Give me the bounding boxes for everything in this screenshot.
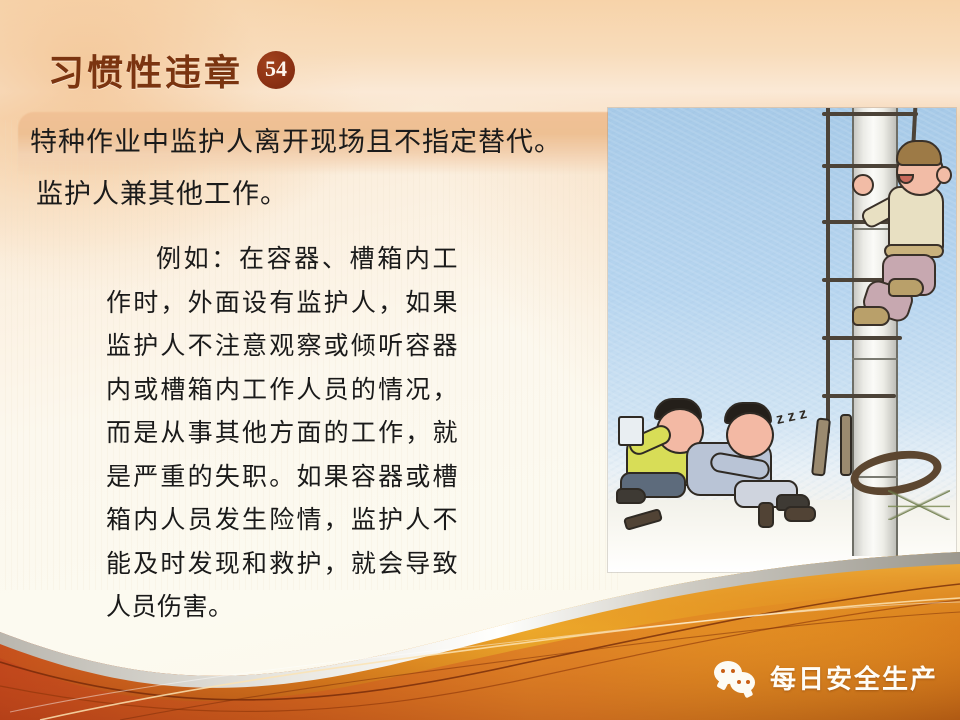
snore-marks: z z z bbox=[775, 405, 809, 428]
footer-brand: 每日安全生产 bbox=[714, 659, 938, 696]
ladder-rung bbox=[822, 112, 918, 116]
headline-line-1: 特种作业中监护人离开现场且不指定替代。 bbox=[30, 120, 638, 159]
wechat-icon bbox=[714, 661, 758, 695]
worker-shoe bbox=[888, 278, 924, 297]
debris-piece bbox=[784, 506, 816, 522]
sleeping-man-figure: z z z bbox=[680, 394, 810, 522]
climbing-worker-figure bbox=[844, 126, 956, 376]
footer-account-name: 每日安全生产 bbox=[770, 659, 938, 696]
debris-pipe bbox=[840, 414, 852, 476]
wechat-bubble-small bbox=[730, 672, 755, 693]
worker-ear bbox=[936, 166, 952, 184]
wechat-eye bbox=[746, 680, 750, 684]
slide-canvas: 习惯性违章 54 特种作业中监护人离开现场且不指定替代。 监护人兼其他工作。 例… bbox=[0, 0, 960, 720]
grass-icon bbox=[888, 490, 950, 520]
ladder-rail-left bbox=[826, 108, 830, 434]
status-badge: 54 bbox=[257, 51, 295, 89]
worker-hair bbox=[896, 140, 942, 166]
wechat-eye bbox=[721, 669, 725, 673]
slide-title-row: 习惯性违章 54 bbox=[48, 44, 295, 96]
ladder-rung bbox=[822, 394, 896, 398]
worker-hand bbox=[852, 174, 874, 196]
headline-line-2: 监护人兼其他工作。 bbox=[36, 172, 638, 211]
man-b-head bbox=[726, 412, 774, 458]
wechat-eye bbox=[731, 669, 735, 673]
man-a-shoe bbox=[616, 488, 646, 504]
worker-shoe bbox=[852, 306, 890, 326]
wechat-eye bbox=[737, 680, 741, 684]
debris-piece bbox=[758, 502, 774, 528]
page-title: 习惯性违章 bbox=[48, 44, 243, 96]
headline-block: 特种作业中监护人离开现场且不指定替代。 监护人兼其他工作。 bbox=[18, 110, 638, 211]
bottle-icon bbox=[618, 416, 644, 446]
illustration-image: z z z bbox=[608, 108, 956, 572]
